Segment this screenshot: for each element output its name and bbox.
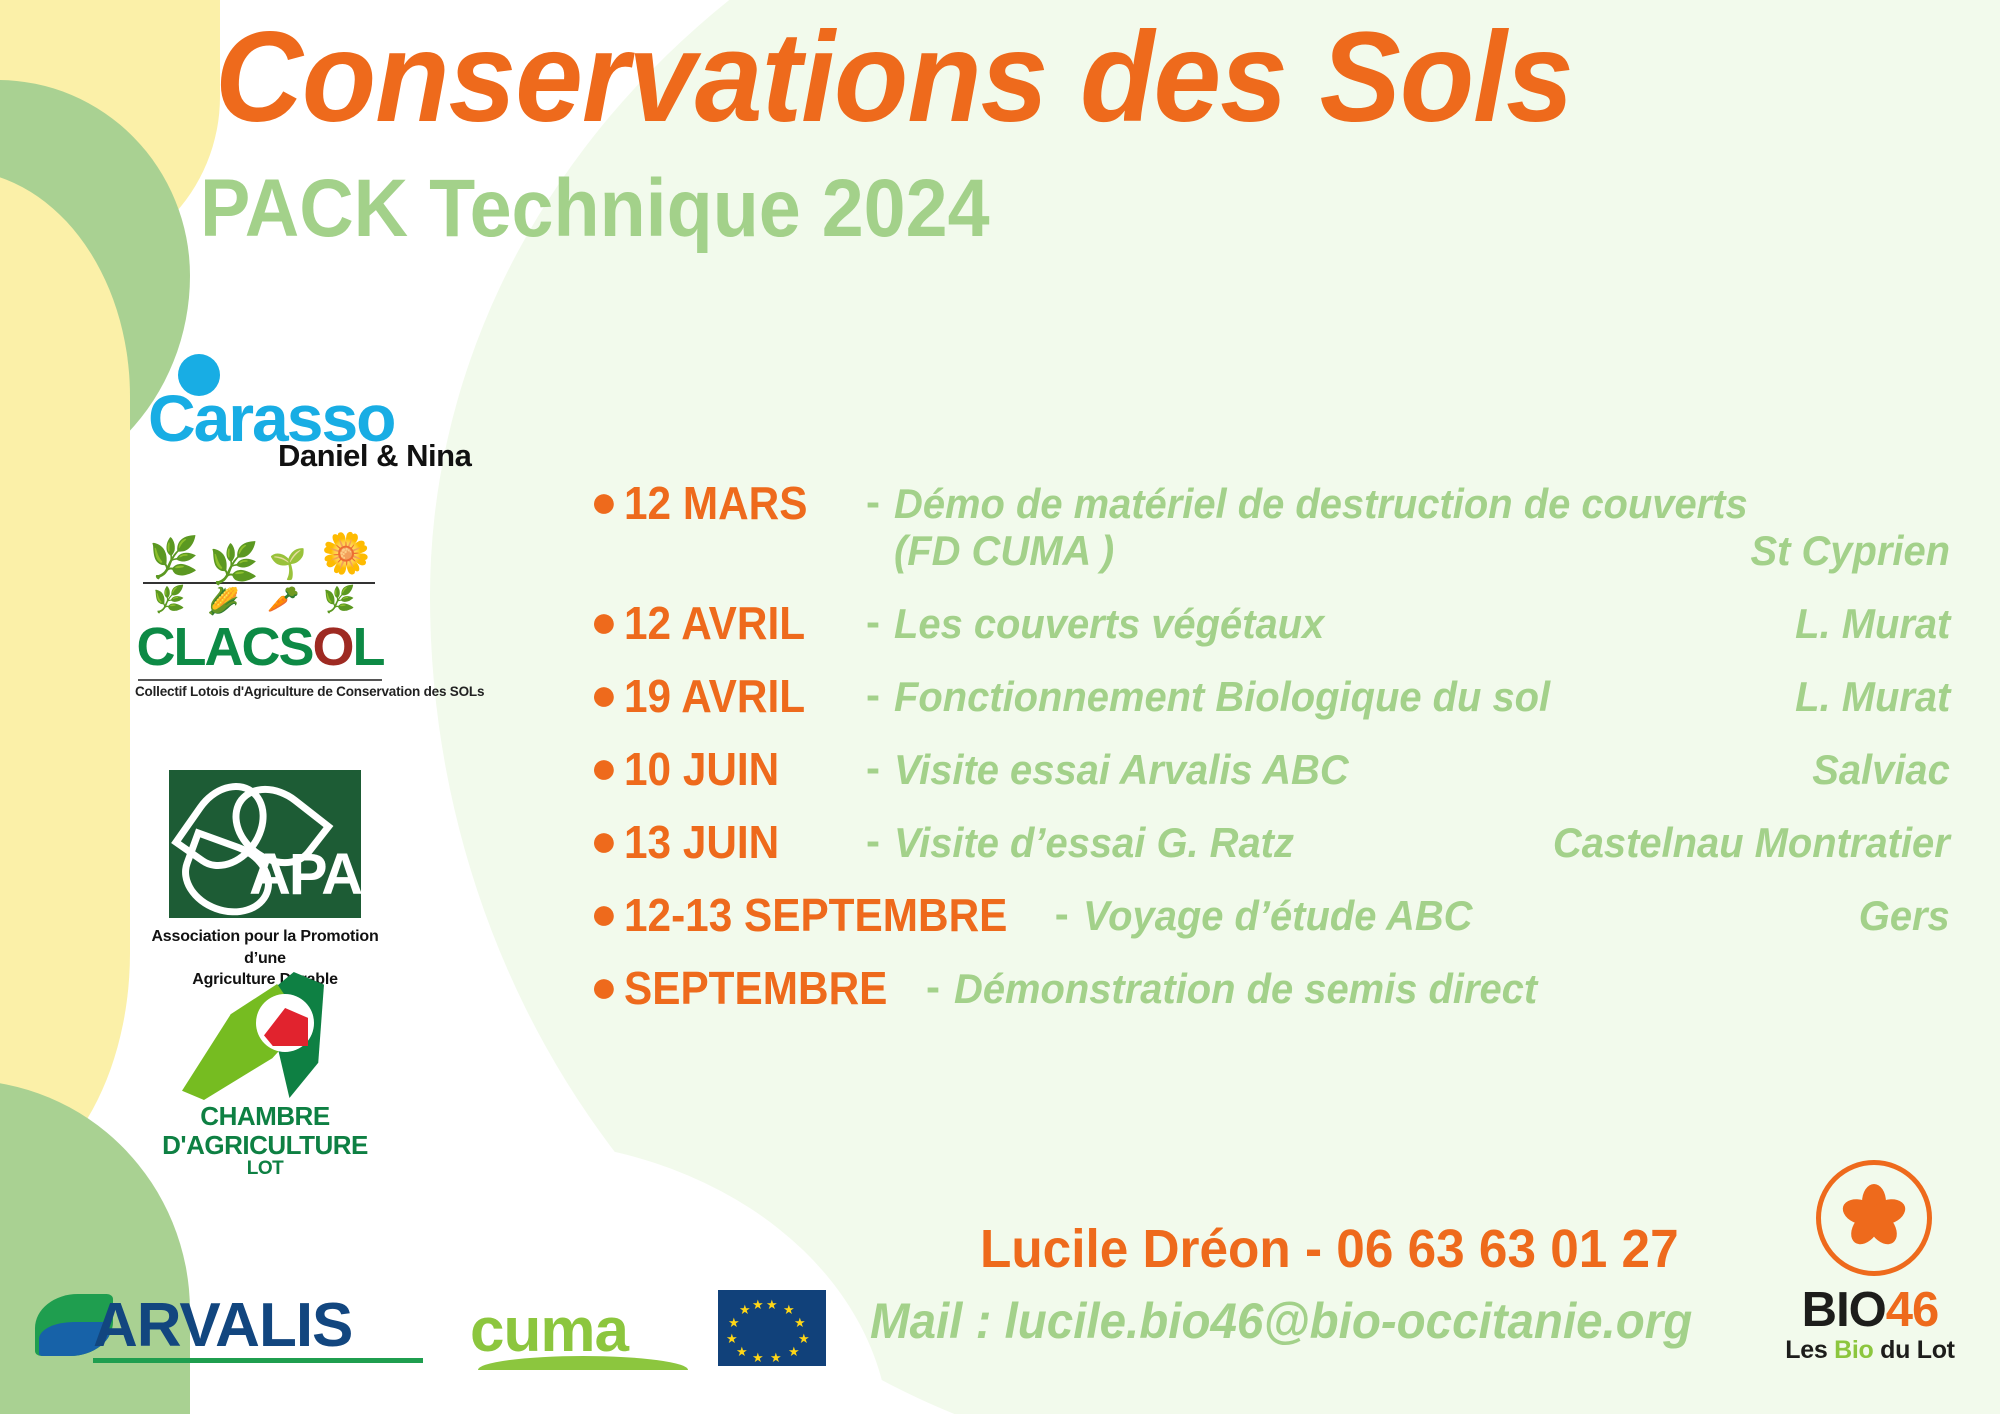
- eu-stars-icon: ★ ★ ★ ★ ★ ★ ★ ★ ★ ★ ★ ★: [718, 1290, 826, 1366]
- bullet-icon: ●: [590, 480, 624, 522]
- clacsol-tagline: Collectif Lotois d'Agriculture de Conser…: [135, 684, 385, 699]
- bullet-icon: ●: [590, 892, 624, 934]
- event-dash: -: [1041, 892, 1083, 936]
- event-place: St Cyprien: [1750, 527, 1950, 574]
- partner-logo-column: Carasso Daniel & Nina 🌿 🌿 🌱 🌼 🌿 🌽 🥕 🌿 CL…: [130, 350, 390, 480]
- bullet-icon: ●: [590, 673, 624, 715]
- chambre-line-1: CHAMBRE: [200, 1101, 329, 1131]
- event-date: SEPTEMBRE: [624, 965, 889, 1011]
- event-dash: -: [912, 965, 954, 1009]
- clacsol-plants-illustration: 🌿 🌿 🌱 🌼 🌿 🌽 🥕 🌿: [135, 530, 385, 618]
- event-date: 12 MARS: [624, 480, 834, 526]
- event-row: ● 12 MARS - Démo de matériel de destruct…: [590, 480, 1950, 574]
- event-row: ● 12 AVRIL - Les couverts végétaux L. Mu…: [590, 600, 1950, 647]
- logo-apad: APAD Association pour la Promotion d’une…: [150, 770, 380, 991]
- bullet-icon: ●: [590, 600, 624, 642]
- event-place: Castelnau Montratier: [1553, 819, 1950, 866]
- event-place: L. Murat: [1795, 673, 1950, 720]
- event-body: Démo de matériel de destruction de couve…: [894, 480, 1950, 574]
- poster-content: Conservations des Sols PACK Technique 20…: [0, 0, 2000, 1414]
- event-date: 19 AVRIL: [624, 673, 834, 719]
- event-title: Démonstration de semis direct: [954, 965, 1537, 1012]
- event-place: L. Murat: [1795, 600, 1950, 647]
- clacsol-wordmark: CLACSOL: [135, 620, 385, 674]
- bullet-icon: ●: [590, 965, 624, 1007]
- poster-title: Conservations des Sols: [215, 14, 1573, 142]
- event-body: Démonstration de semis direct: [954, 965, 1950, 1012]
- event-body: Les couverts végétaux L. Murat: [894, 600, 1950, 647]
- event-title: Démo de matériel de destruction de couve…: [894, 480, 1748, 527]
- event-body: Visite d’essai G. Ratz Castelnau Montrat…: [894, 819, 1950, 866]
- apad-wordmark: APAD: [249, 846, 361, 904]
- logo-arvalis: ARVALIS: [35, 1288, 435, 1366]
- arvalis-underline: [93, 1358, 423, 1363]
- event-title: Les couverts végétaux: [894, 600, 1324, 647]
- event-title: Fonctionnement Biologique du sol: [894, 673, 1550, 720]
- logo-chambre-agriculture: CHAMBRE D'AGRICULTURE LOT: [160, 970, 370, 1180]
- events-list: ● 12 MARS - Démo de matériel de destruct…: [590, 480, 1950, 1038]
- contact-email[interactable]: Mail : lucile.bio46@bio-occitanie.org: [870, 1292, 1692, 1350]
- bio46-tagline-les: Les: [1785, 1336, 1834, 1364]
- bio46-word-46: 46: [1886, 1283, 1939, 1337]
- event-dash: -: [852, 673, 894, 717]
- apad-badge: APAD: [169, 770, 361, 918]
- event-dash: -: [852, 819, 894, 863]
- logo-european-union-flag: ★ ★ ★ ★ ★ ★ ★ ★ ★ ★ ★ ★: [718, 1290, 826, 1366]
- event-body: Voyage d’étude ABC Gers: [1083, 892, 1950, 939]
- event-date: 10 JUIN: [624, 746, 834, 792]
- clacsol-part-3: L: [353, 617, 384, 677]
- bullet-icon: ●: [590, 746, 624, 788]
- logo-carasso: Carasso Daniel & Nina: [130, 350, 490, 480]
- clacsol-divider: [138, 679, 382, 681]
- bio46-word-io: IO: [1836, 1283, 1886, 1337]
- event-title: Voyage d’étude ABC: [1083, 892, 1472, 939]
- event-dash: -: [852, 746, 894, 790]
- bio46-tagline-bio: Bio: [1834, 1336, 1873, 1364]
- chambre-line-3: LOT: [160, 1159, 370, 1180]
- bullet-icon: ●: [590, 819, 624, 861]
- event-place: Salviac: [1812, 746, 1950, 793]
- bio46-tagline: Les Bio du Lot: [1770, 1336, 1970, 1365]
- event-body: Visite essai Arvalis ABC Salviac: [894, 746, 1950, 793]
- event-row: ● 10 JUIN - Visite essai Arvalis ABC Sal…: [590, 746, 1950, 793]
- chambre-symbol-icon: [180, 970, 350, 1100]
- arvalis-wordmark: ARVALIS: [93, 1290, 352, 1361]
- bio46-wordmark: BIO46: [1770, 1286, 1970, 1335]
- event-title-continuation: (FD CUMA ): [894, 527, 1114, 574]
- event-body: Fonctionnement Biologique du sol L. Mura…: [894, 673, 1950, 720]
- chambre-wordmark: CHAMBRE D'AGRICULTURE LOT: [160, 1102, 370, 1180]
- event-dash: -: [852, 480, 894, 524]
- apad-tagline-line-1: Association pour la Promotion d’une: [150, 926, 380, 969]
- event-title: Visite essai Arvalis ABC: [894, 746, 1349, 793]
- event-row: ● 13 JUIN - Visite d’essai G. Ratz Caste…: [590, 819, 1950, 866]
- event-row: ● 12-13 SEPTEMBRE - Voyage d’étude ABC G…: [590, 892, 1950, 939]
- carasso-subtitle: Daniel & Nina: [278, 438, 471, 474]
- clacsol-part-2: O: [312, 617, 352, 677]
- event-date: 12-13 SEPTEMBRE: [624, 892, 1007, 938]
- chambre-line-2: D'AGRICULTURE: [162, 1130, 368, 1160]
- event-row: ● SEPTEMBRE - Démonstration de semis dir…: [590, 965, 1950, 1012]
- logo-clacsol: 🌿 🌿 🌱 🌼 🌿 🌽 🥕 🌿 CLACSOL Collectif Lotois…: [135, 530, 385, 699]
- poster-subtitle: PACK Technique 2024: [200, 168, 990, 250]
- event-date: 12 AVRIL: [624, 600, 834, 646]
- clacsol-part-1: CLACS: [136, 617, 312, 677]
- event-dash: -: [852, 600, 894, 644]
- cuma-wordmark: cuma: [470, 1300, 710, 1362]
- event-row: ● 19 AVRIL - Fonctionnement Biologique d…: [590, 673, 1950, 720]
- event-place: Gers: [1859, 892, 1950, 939]
- logo-bio46: BIO46 Les Bio du Lot: [1770, 1160, 1970, 1380]
- bio46-tagline-dulot: du Lot: [1874, 1336, 1955, 1364]
- bio46-flower-icon: [1836, 1180, 1912, 1256]
- event-title: Visite d’essai G. Ratz: [894, 819, 1294, 866]
- bio46-word-b: B: [1802, 1283, 1836, 1337]
- logo-cuma: cuma: [470, 1300, 710, 1370]
- event-date: 13 JUIN: [624, 819, 834, 865]
- contact-name-phone: Lucile Dréon - 06 63 63 01 27: [980, 1218, 1679, 1280]
